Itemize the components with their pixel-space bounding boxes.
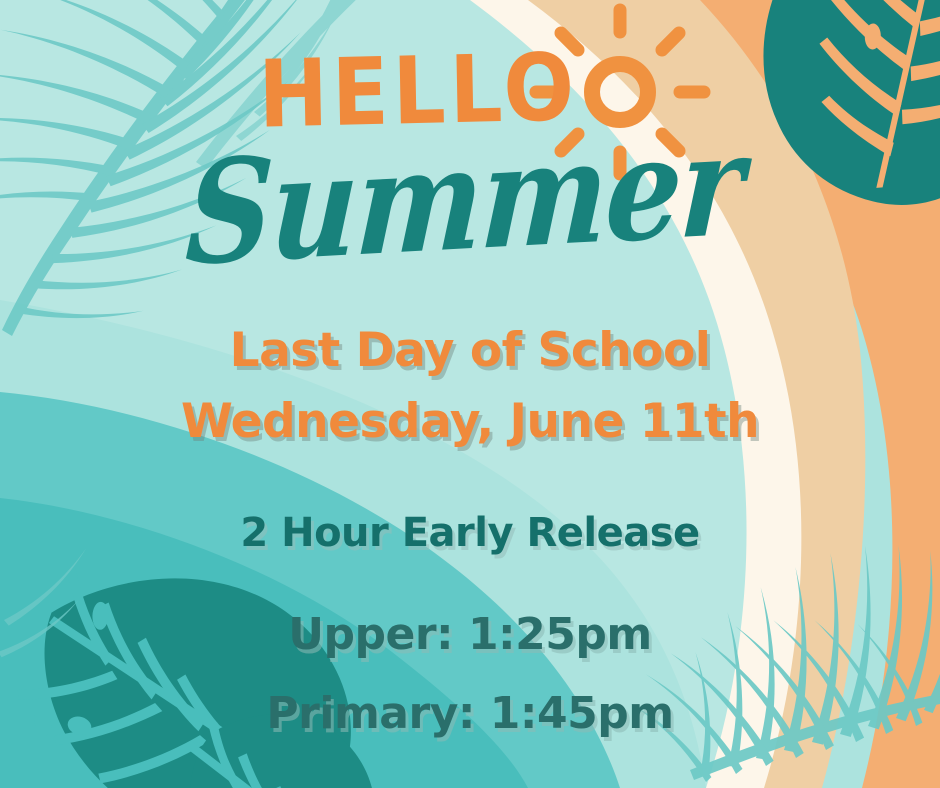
announcement-date: Wednesday, June 11th [0, 398, 940, 445]
dismissal-time-primary: Primary: 1:45pm [0, 692, 940, 736]
dismissal-time-upper: Upper: 1:25pm [0, 613, 940, 657]
announcement-last-day-of-school: Last Day of School [0, 327, 940, 374]
early-release-note: 2 Hour Early Release [0, 513, 940, 553]
summer-announcement-poster: Hello Summer Last Day of School Wednesda… [0, 0, 940, 788]
poster-text-layer: Hello Summer Last Day of School Wednesda… [0, 0, 940, 788]
